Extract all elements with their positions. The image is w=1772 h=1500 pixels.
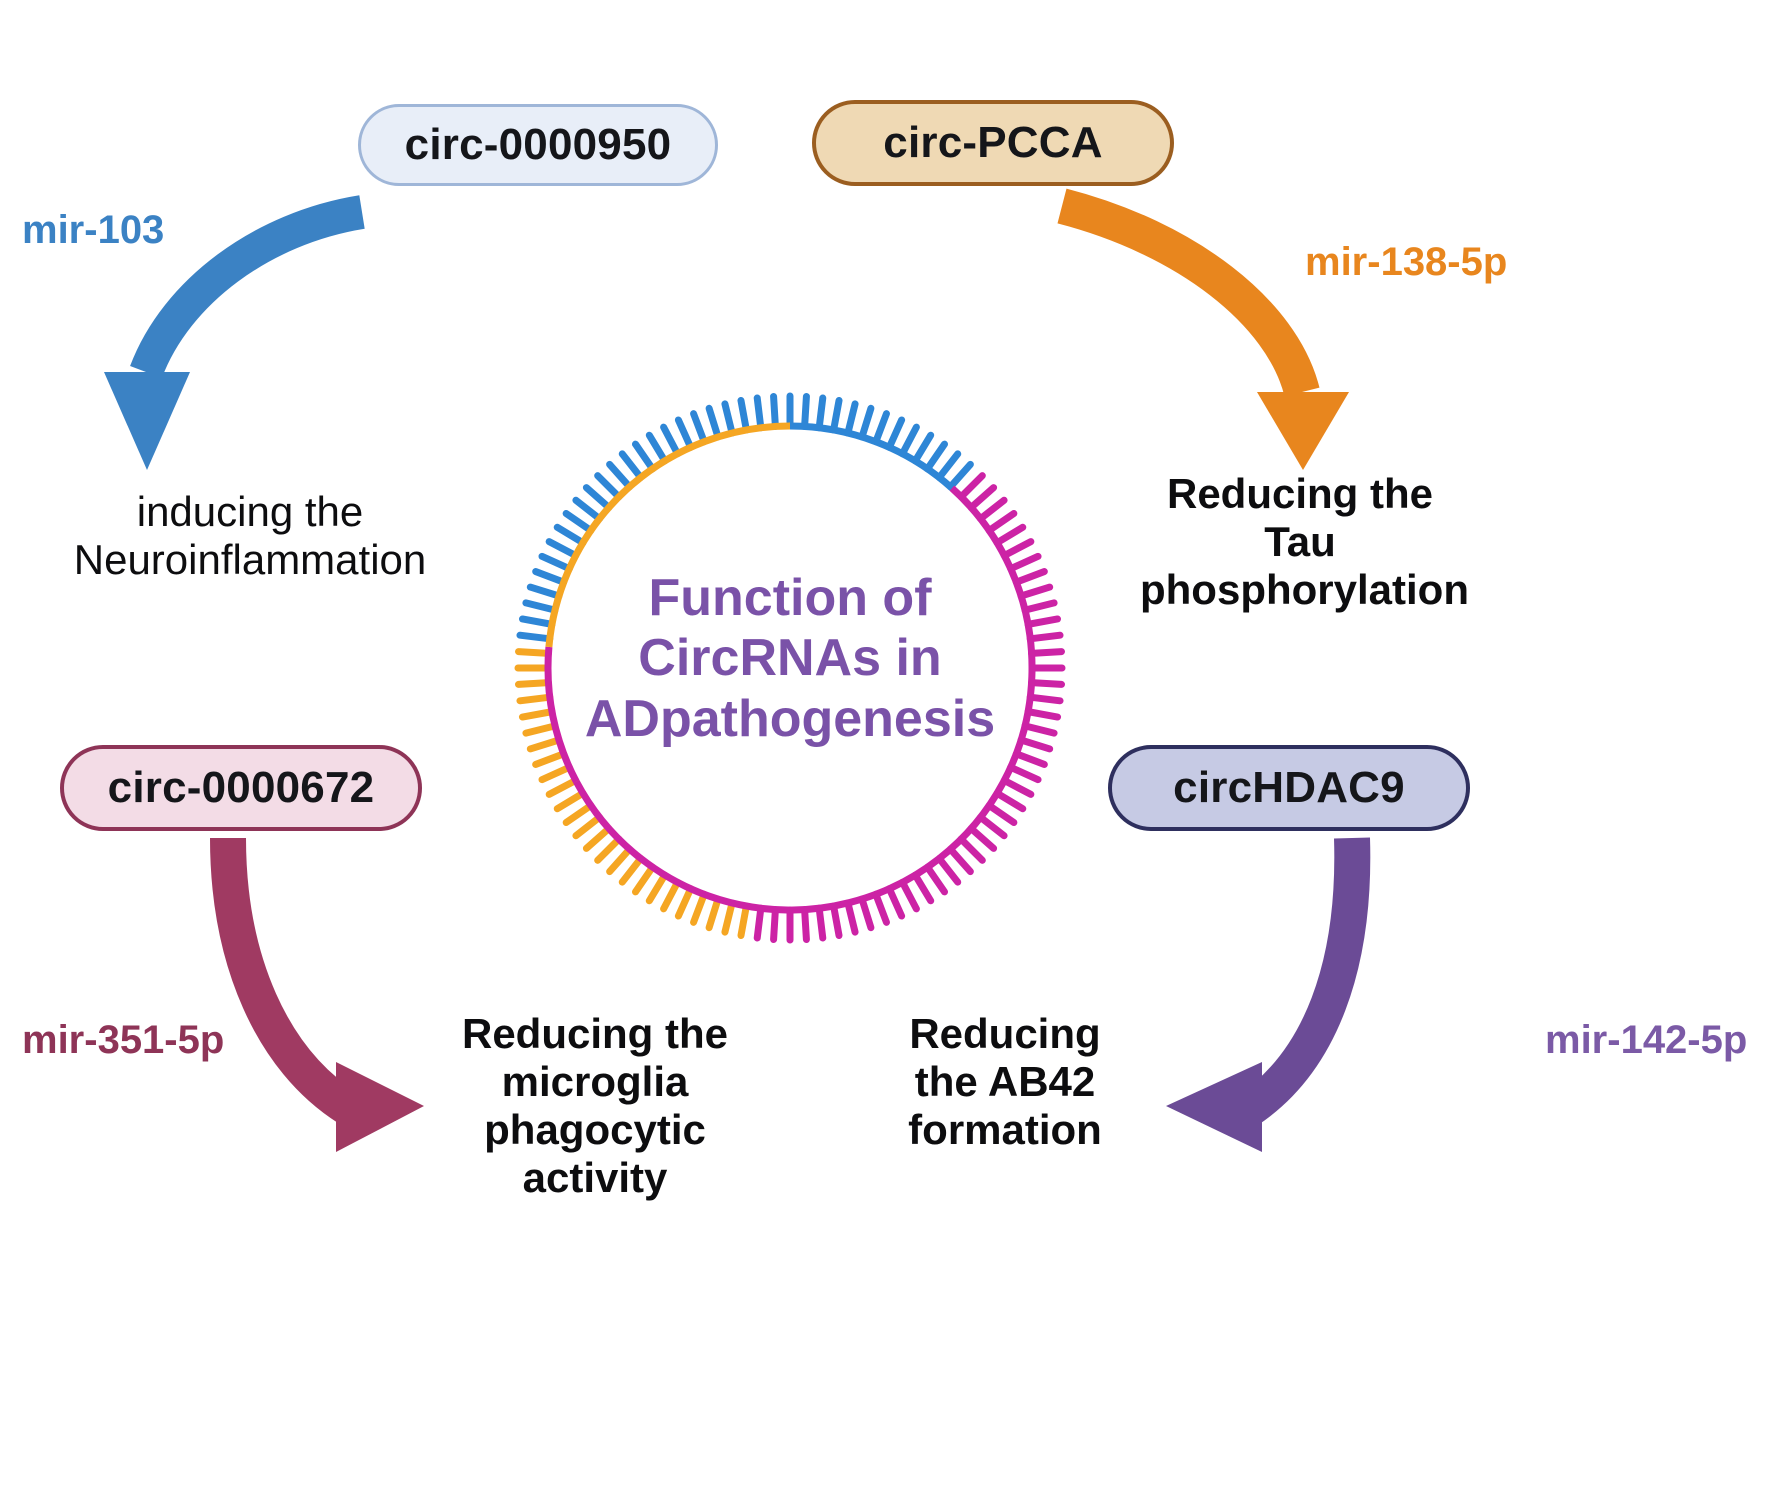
outcome-tau-phosphorylation: Reducing the Tau phosphorylation bbox=[1140, 470, 1460, 614]
center-title-line3: ADpathogenesis bbox=[565, 689, 1015, 749]
outcome-ab42-formation: Reducing the AB42 formation bbox=[880, 1010, 1130, 1154]
outcome-line: the AB42 bbox=[880, 1058, 1130, 1106]
outcome-line: microglia bbox=[450, 1058, 740, 1106]
outcome-line: Tau bbox=[1140, 518, 1460, 566]
outcome-line: Reducing the bbox=[450, 1010, 740, 1058]
node-circ-pcca[interactable]: circ-PCCA bbox=[812, 100, 1174, 186]
node-label: circ-0000672 bbox=[108, 763, 375, 813]
node-label: circHDAC9 bbox=[1173, 763, 1405, 813]
mirna-label-mir-138-5p: mir-138-5p bbox=[1305, 240, 1507, 285]
center-title: Function of CircRNAs in ADpathogenesis bbox=[565, 568, 1015, 749]
outcome-line: formation bbox=[880, 1106, 1130, 1154]
outcome-line: phagocytic bbox=[450, 1106, 740, 1154]
outcome-line: inducing the bbox=[40, 488, 460, 536]
node-circ-0000672[interactable]: circ-0000672 bbox=[60, 745, 422, 831]
center-title-line1: Function of bbox=[565, 568, 1015, 628]
outcome-line: phosphorylation bbox=[1140, 566, 1460, 614]
arrow-mir-142-5p bbox=[1166, 838, 1352, 1152]
node-label: circ-0000950 bbox=[405, 120, 672, 170]
arrow-mir-351-5p bbox=[228, 838, 424, 1152]
diagram-canvas: Function of CircRNAs in ADpathogenesis c… bbox=[0, 0, 1772, 1500]
center-title-line2: CircRNAs in bbox=[565, 628, 1015, 688]
outcome-line: activity bbox=[450, 1154, 740, 1202]
outcome-line: Reducing the bbox=[1140, 470, 1460, 518]
mirna-label-mir-351-5p: mir-351-5p bbox=[22, 1018, 224, 1063]
node-circ-0000950[interactable]: circ-0000950 bbox=[358, 104, 718, 186]
outcome-neuroinflammation: inducing the Neuroinflammation bbox=[40, 488, 460, 584]
mirna-label-mir-103: mir-103 bbox=[22, 208, 164, 253]
outcome-line: Reducing bbox=[880, 1010, 1130, 1058]
node-label: circ-PCCA bbox=[883, 118, 1102, 168]
node-circ-hdac9[interactable]: circHDAC9 bbox=[1108, 745, 1470, 831]
outcome-line: Neuroinflammation bbox=[40, 536, 460, 584]
mirna-label-mir-142-5p: mir-142-5p bbox=[1545, 1018, 1747, 1063]
outcome-microglia-phagocytic: Reducing the microglia phagocytic activi… bbox=[450, 1010, 740, 1202]
